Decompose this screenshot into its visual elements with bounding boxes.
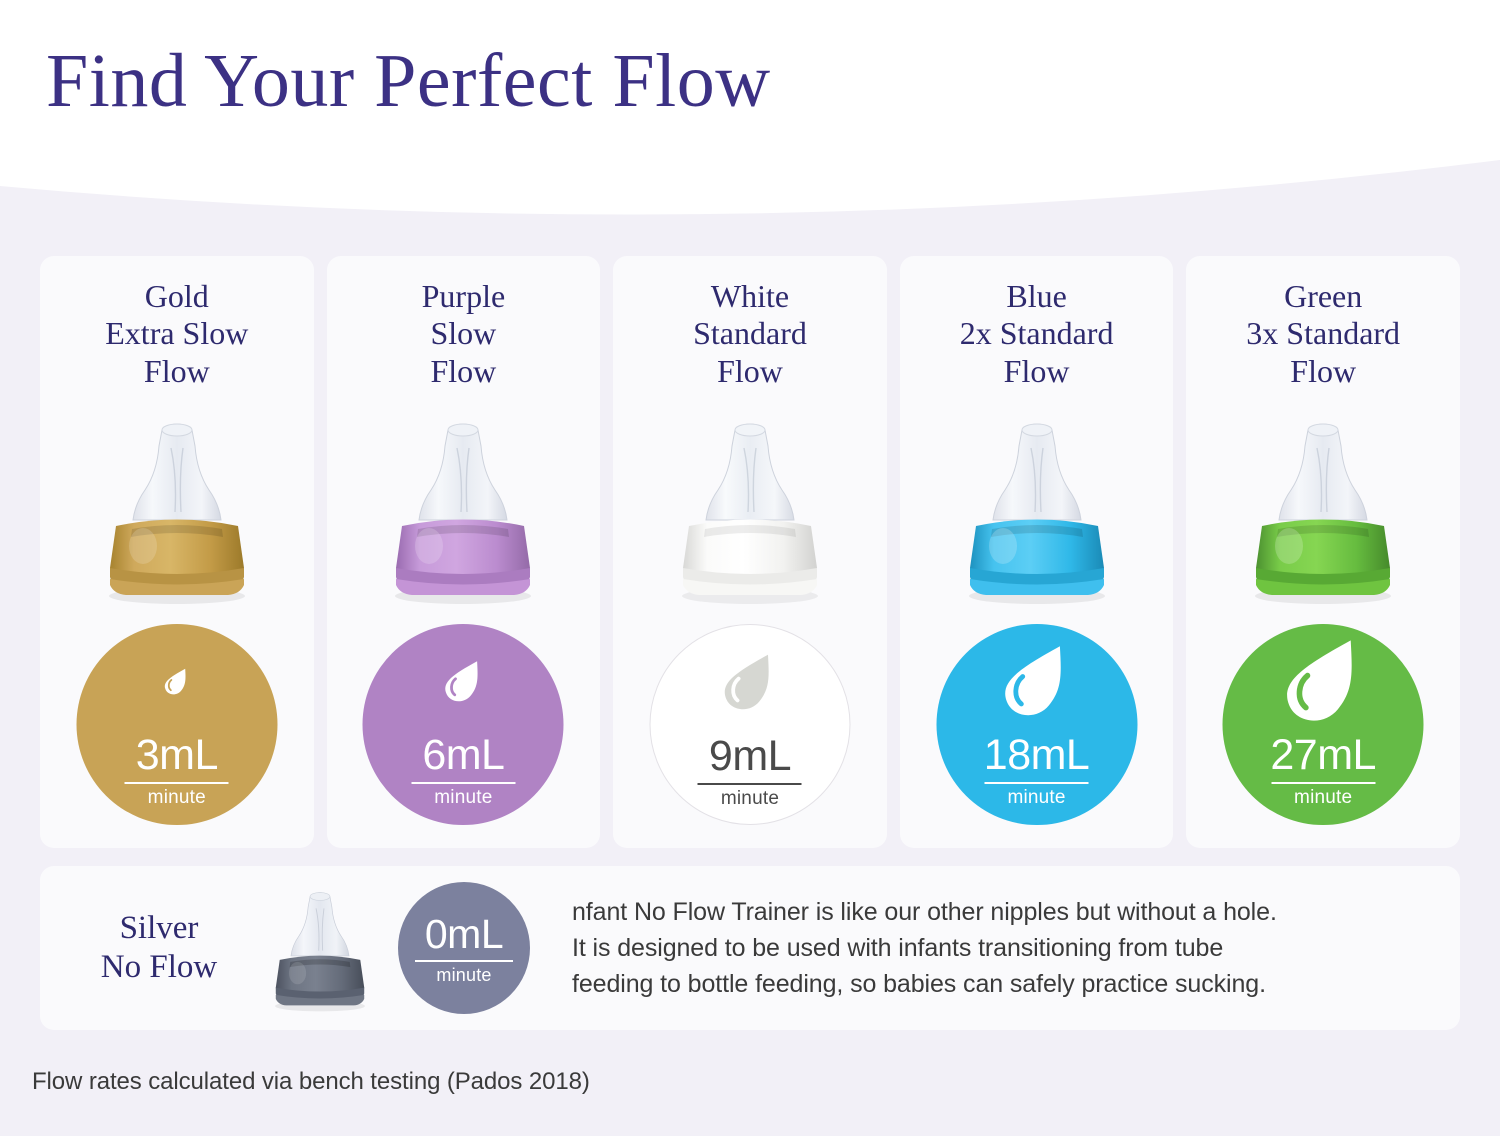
flow-rate-fraction: 9mL minute <box>698 735 802 808</box>
flow-rate-fraction: 0mL minute <box>415 914 513 984</box>
flow-card-heading: White Standard Flow <box>693 278 807 390</box>
nipple-image-green <box>1234 408 1412 608</box>
flow-rate-value: 3mL <box>136 734 218 777</box>
flow-rate-unit: minute <box>1294 788 1352 807</box>
fraction-bar <box>985 782 1089 784</box>
flow-cards-row: Gold Extra Slow Flow <box>0 256 1500 848</box>
flow-rate-circle-green[interactable]: 27mL minute <box>1223 624 1424 825</box>
flow-rate-unit: minute <box>436 966 491 984</box>
droplet-icon-blue <box>997 624 1077 732</box>
page-title: Find Your Perfect Flow <box>46 42 771 122</box>
flow-card-purple[interactable]: Purple Slow Flow <box>327 256 601 848</box>
flow-card-heading: Green 3x Standard Flow <box>1246 278 1400 390</box>
droplet-icon-white <box>710 625 790 733</box>
flow-rate-circle-blue[interactable]: 18mL minute <box>936 624 1137 825</box>
silver-description: nfant No Flow Trainer is like our other … <box>572 894 1277 1002</box>
flow-rate-circle-purple[interactable]: 6mL minute <box>363 624 564 825</box>
flow-rate-value: 6mL <box>422 734 504 777</box>
flow-rate-fraction: 3mL minute <box>125 734 229 807</box>
flow-rate-circle-silver[interactable]: 0mL minute <box>398 882 530 1014</box>
silver-no-flow-panel[interactable]: Silver No Flow <box>40 866 1460 1030</box>
nipple-image-silver <box>260 882 380 1014</box>
flow-card-green[interactable]: Green 3x Standard Flow <box>1186 256 1460 848</box>
fraction-bar <box>125 782 229 784</box>
flow-rate-value: 27mL <box>1270 734 1376 777</box>
flow-rate-circle-white[interactable]: 9mL minute <box>649 624 850 825</box>
flow-card-gold[interactable]: Gold Extra Slow Flow <box>40 256 314 848</box>
droplet-icon-green <box>1283 624 1363 732</box>
flow-rate-value: 9mL <box>709 735 791 778</box>
flow-rate-fraction: 18mL minute <box>984 734 1090 807</box>
fraction-bar <box>415 960 513 962</box>
flow-rate-value: 18mL <box>984 734 1090 777</box>
flow-rate-fraction: 27mL minute <box>1270 734 1376 807</box>
flow-card-heading: Gold Extra Slow Flow <box>105 278 248 390</box>
nipple-image-gold <box>88 408 266 608</box>
flow-card-white[interactable]: White Standard Flow <box>613 256 887 848</box>
flow-rate-circle-gold[interactable]: 3mL minute <box>76 624 277 825</box>
silver-label: Silver No Flow <box>64 909 254 987</box>
fraction-bar <box>1271 782 1375 784</box>
nipple-image-white <box>661 408 839 608</box>
footnote: Flow rates calculated via bench testing … <box>32 1068 590 1096</box>
flow-rate-unit: minute <box>1007 788 1065 807</box>
flow-rate-value: 0mL <box>425 914 503 955</box>
flow-rate-unit: minute <box>434 788 492 807</box>
flow-card-blue[interactable]: Blue 2x Standard Flow <box>900 256 1174 848</box>
droplet-icon-gold <box>137 624 217 732</box>
flow-card-heading: Blue 2x Standard Flow <box>960 278 1114 390</box>
fraction-bar <box>698 783 802 785</box>
fraction-bar <box>411 782 515 784</box>
flow-card-heading: Purple Slow Flow <box>422 278 506 390</box>
flow-rate-fraction: 6mL minute <box>411 734 515 807</box>
flow-rate-unit: minute <box>721 789 779 808</box>
flow-rate-unit: minute <box>148 788 206 807</box>
droplet-icon-purple <box>423 624 503 732</box>
nipple-image-blue <box>948 408 1126 608</box>
nipple-image-purple <box>374 408 552 608</box>
